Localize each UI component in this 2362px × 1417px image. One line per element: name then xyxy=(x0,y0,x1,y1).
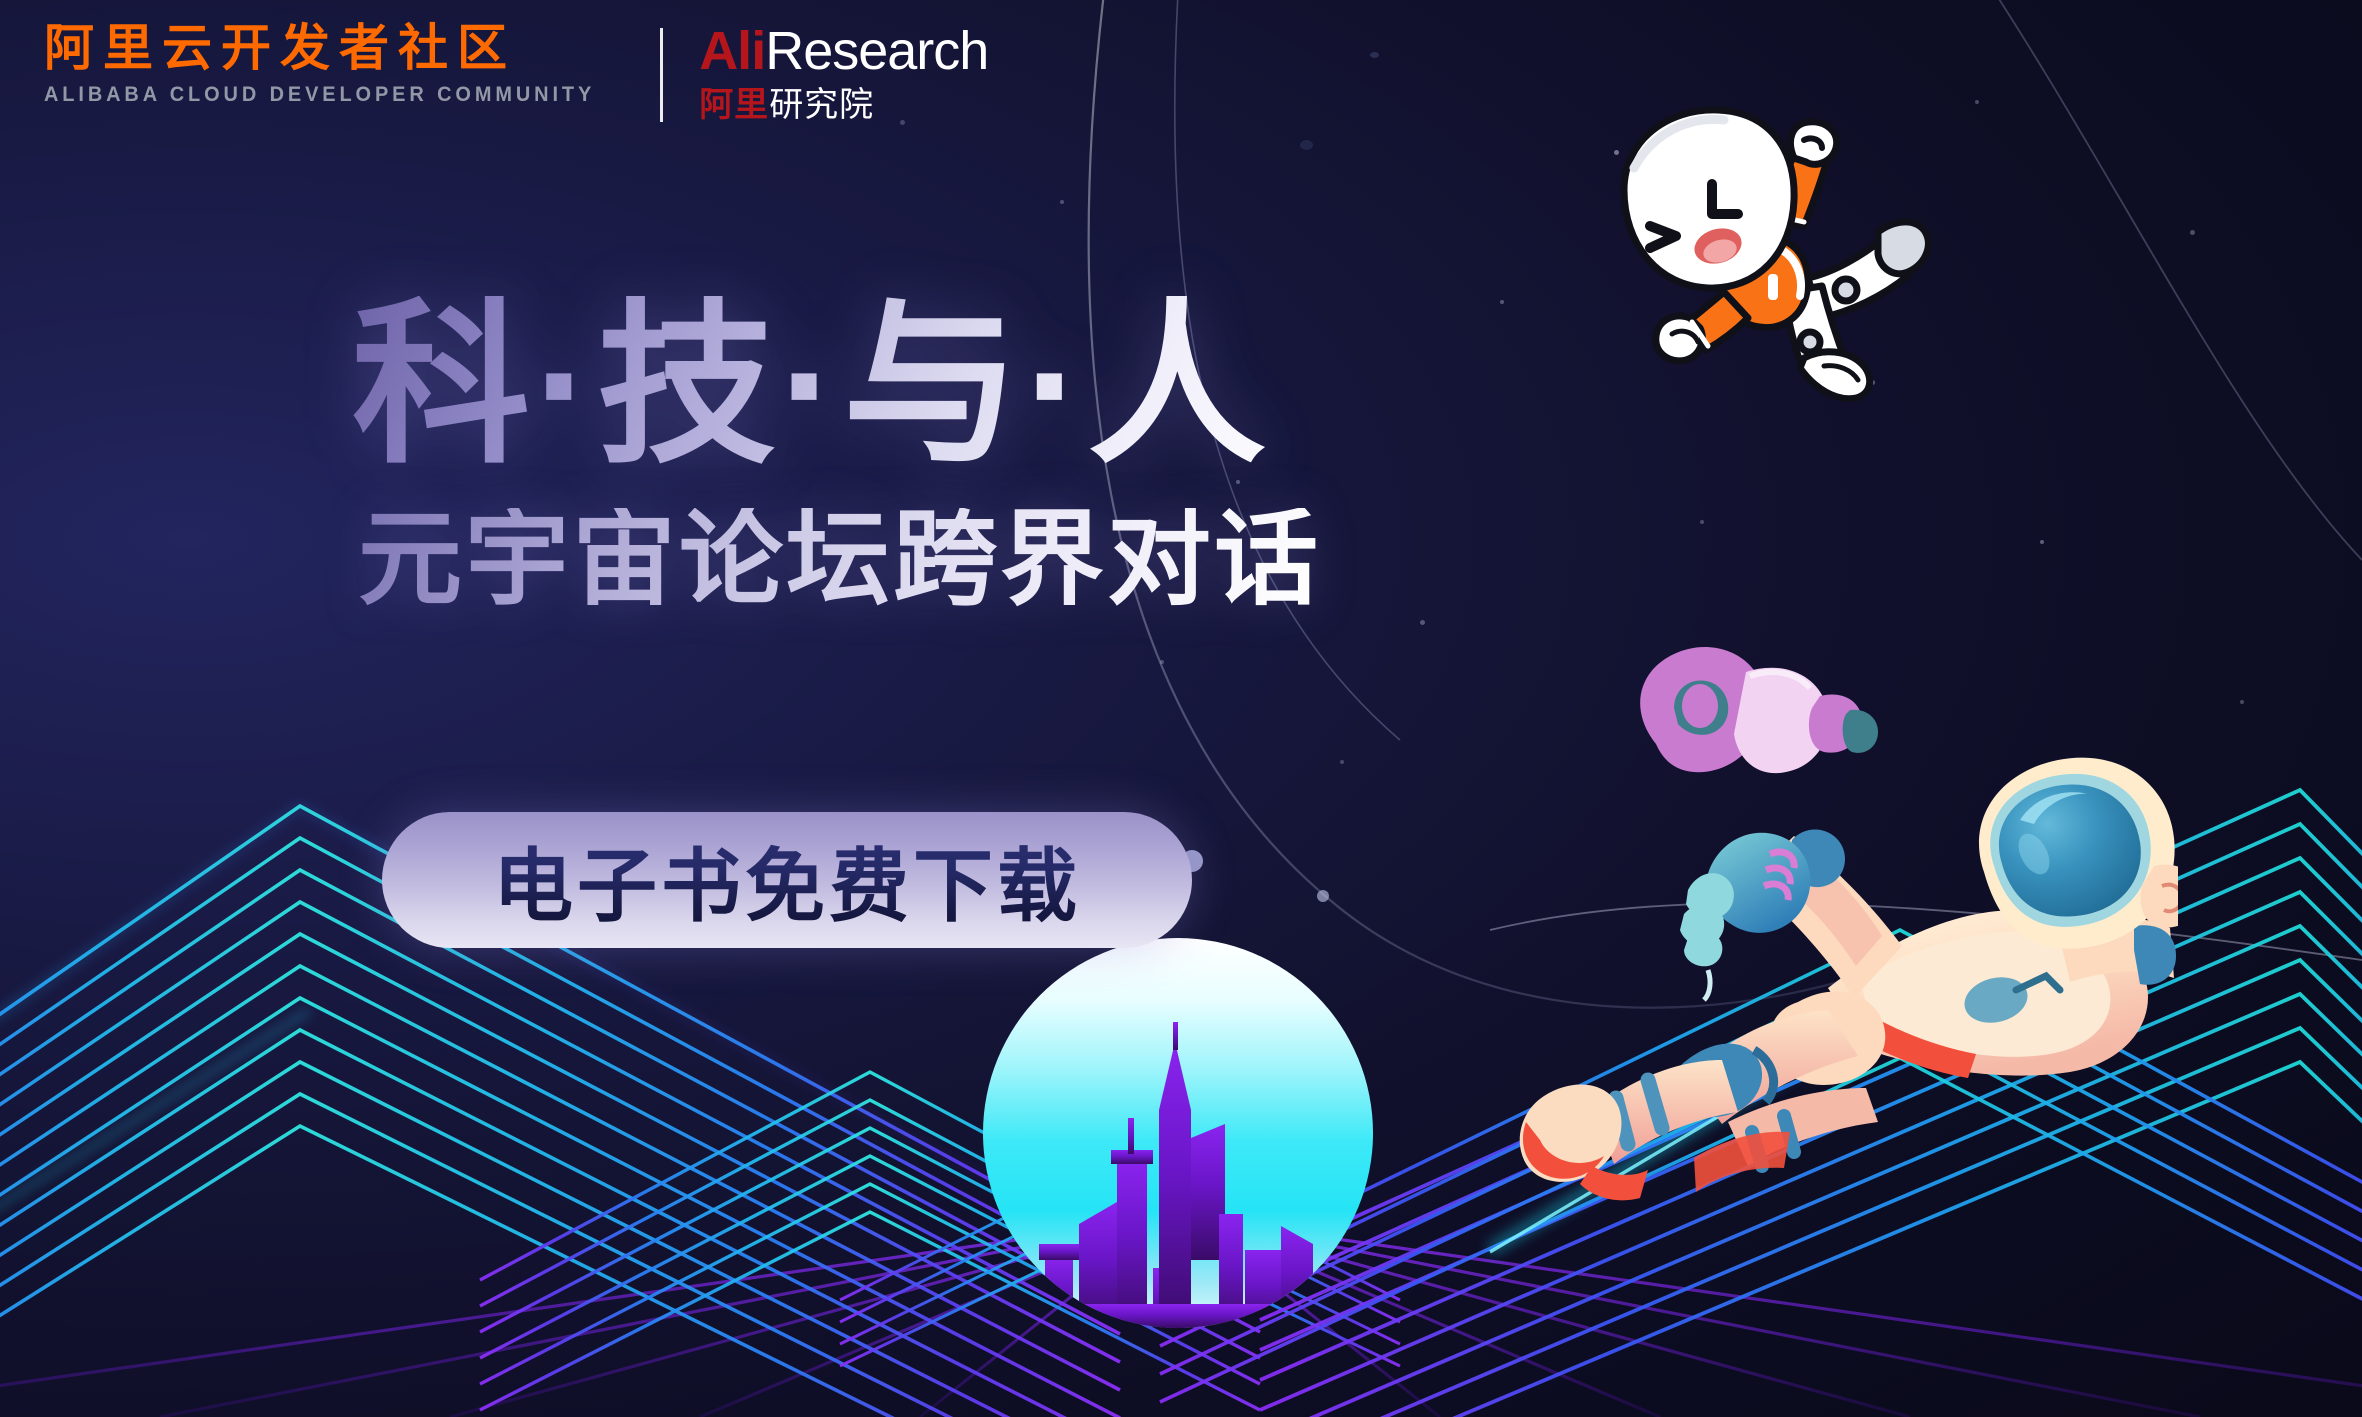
chibi-astronaut-mascot xyxy=(1572,96,1972,456)
ali-research-cn-red: 阿里 xyxy=(699,86,769,124)
alibaba-cloud-cn-name: 阿里云开发者社区 xyxy=(44,22,624,75)
alibaba-cloud-logo[interactable]: 阿里云开发者社区 ALIBABA CLOUD DEVELOPER COMMUNI… xyxy=(44,22,624,107)
reclining-astronaut-with-megaphone xyxy=(1498,610,2178,1230)
ali-research-logo[interactable]: AliResearch 阿里研究院 xyxy=(699,24,988,122)
logo-divider xyxy=(660,28,663,122)
download-ebook-label: 电子书免费下载 xyxy=(493,822,1081,938)
alibaba-cloud-en-name: ALIBABA CLOUD DEVELOPER COMMUNITY xyxy=(44,83,595,107)
download-ebook-button[interactable]: 电子书免费下载 xyxy=(382,812,1192,948)
ali-research-cn-name: 阿里研究院 xyxy=(699,88,988,122)
hero-text-block: 科·技·与·人 元宇宙论坛跨界对话 xyxy=(352,296,1321,612)
city-skyline xyxy=(983,938,1373,1328)
promo-banner: 阿里云开发者社区 ALIBABA CLOUD DEVELOPER COMMUNI… xyxy=(0,0,2362,1417)
header-logos: 阿里云开发者社区 ALIBABA CLOUD DEVELOPER COMMUNI… xyxy=(44,22,988,122)
page-subtitle: 元宇宙论坛跨界对话 xyxy=(358,508,1321,612)
ali-research-cn-white: 研究院 xyxy=(769,86,874,124)
page-title: 科·技·与·人 xyxy=(352,296,1321,474)
ali-research-wordmark: AliResearch xyxy=(699,24,988,78)
city-skyline-globe xyxy=(983,938,1373,1328)
ali-research-ali-text: Ali xyxy=(699,21,765,81)
ali-research-research-text: Research xyxy=(765,21,988,81)
